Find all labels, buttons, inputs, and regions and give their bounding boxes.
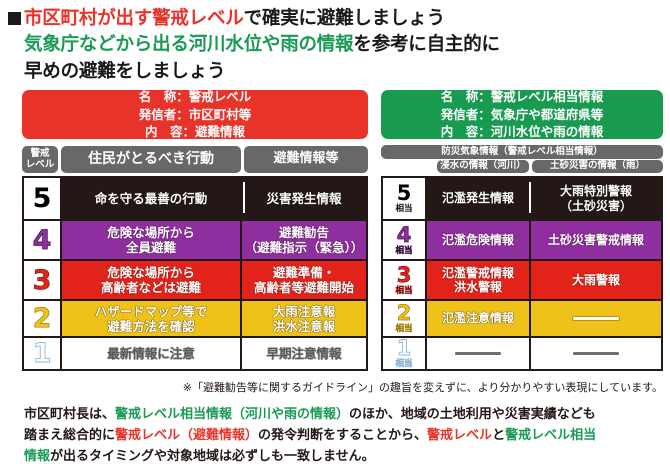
info-left-name: 名 称：警戒レベル — [139, 88, 252, 106]
river-line: 氾濫注意情報 — [442, 311, 514, 325]
evacuation-cell: 早期注意情報 — [242, 338, 366, 369]
river-line: 氾濫発生情報 — [442, 191, 514, 205]
level-number: 5 — [33, 185, 52, 212]
rain-line: 土砂災害警戒情報 — [548, 233, 644, 247]
level-cell: 2 相当 — [383, 301, 427, 336]
level-sub-label: 相当 — [395, 325, 412, 334]
level-sub-label: 相当 — [395, 247, 412, 256]
bottom-l3-b: が出るタイミングや対象地域は必ずしも一致しません。 — [50, 449, 375, 464]
bottom-paragraph: 市区町村長は、警戒レベル相当情報（河川や雨の情報）のほか、地域の土地利用や災害実… — [24, 404, 664, 467]
level-number: 3 — [33, 267, 52, 294]
evacuation-line: 洪水注意報 — [273, 319, 336, 334]
level-cell: 2 — [24, 301, 62, 336]
evacuation-cell: 避難勧告 （避難指示（緊急）） — [242, 221, 366, 259]
footnote: ※「避難勧告等に関するガイドライン」の趣旨を変えずに、より分かりやすい表現にして… — [22, 379, 663, 395]
evacuation-cell: 災害発生情報 — [242, 178, 366, 219]
bottom-l2-b: の発令判断をすることから、 — [258, 428, 427, 443]
level-sub-label: 相当 — [395, 287, 412, 296]
rain-line: 大雨特別警報 — [560, 184, 632, 198]
level-cell: 3 相当 — [383, 261, 427, 299]
empty-dash — [573, 317, 619, 320]
level-sub-label: 相当 — [395, 205, 412, 214]
action-cell: 命を守る最善の行動 — [62, 178, 242, 219]
evacuation-line: 大雨注意報 — [273, 304, 336, 319]
river-cell: 氾濫警戒情報 洪水警報 — [427, 261, 531, 299]
bottom-l2-red: 警戒レベル（避難情報） — [115, 428, 258, 443]
river-line: 洪水警報 — [442, 280, 514, 294]
bottom-l1-green: 警戒レベル相当情報（河川や雨の情報） — [115, 407, 349, 422]
action-line: 避難方法を確認 — [95, 319, 208, 334]
title-line-1-rest: で確実に避難しましょう — [244, 8, 445, 29]
header-bousai-weather-info: 防災気象情報（警戒レベル相当情報） — [381, 145, 663, 159]
bottom-l2-red2: 警戒レベル — [427, 428, 492, 443]
table-row: 1 最新情報に注意 早期注意情報 — [24, 338, 366, 369]
table-row: 4 相当 氾濫危険情報 土砂災害警戒情報 — [383, 221, 661, 261]
river-cell — [427, 338, 531, 369]
action-cell: 最新情報に注意 — [62, 338, 242, 369]
level-number: 4 — [397, 225, 412, 246]
title-line-2-rest: を参考に自主的に — [353, 34, 499, 55]
header-river-flood-info: 浸水の情報（河川） — [437, 160, 529, 173]
header-level: 警戒 レベル — [22, 146, 58, 173]
header-evacuation-info: 避難情報等 — [244, 146, 368, 173]
bottom-line-2: 踏まえ総合的に警戒レベル（避難情報）の発令判断をすることから、警戒レベルと警戒レ… — [24, 425, 664, 446]
info-right-content: 内 容：河川水位や雨の情報 — [441, 123, 604, 141]
rain-cell — [531, 338, 661, 369]
evacuation-cell: 大雨注意報 洪水注意報 — [242, 301, 366, 336]
header-resident-action: 住民がとるべき行動 — [61, 146, 241, 173]
info-box-equivalent-info: 名 称：警戒レベル相当情報 発信者：気象庁や都道府県等 内 容：河川水位や雨の情… — [381, 90, 663, 139]
level-number: 2 — [397, 303, 412, 324]
empty-dash — [455, 352, 501, 355]
evacuation-cell: 避難準備・ 高齢者等避難開始 — [242, 261, 366, 299]
bottom-line-1: 市区町村長は、警戒レベル相当情報（河川や雨の情報）のほか、地域の土地利用や災害実… — [24, 404, 664, 425]
empty-dash — [573, 352, 619, 355]
river-cell: 氾濫発生情報 — [427, 178, 531, 219]
rain-line: （土砂災害） — [560, 199, 632, 213]
bottom-l2-a: 踏まえ総合的に — [24, 428, 115, 443]
table-row: 3 相当 氾濫警戒情報 洪水警報 大雨警報 — [383, 261, 661, 301]
level-cell: 3 — [24, 261, 62, 299]
evacuation-line: （避難指示（緊急）） — [245, 240, 364, 255]
action-line: 命を守る最善の行動 — [95, 191, 208, 206]
bottom-l1-a: 市区町村長は、 — [24, 407, 115, 422]
level-cell: 5 相当 — [383, 178, 427, 219]
title-line-1-red: 市区町村が出す警戒レベル — [24, 8, 244, 29]
level-sub-label: 相当 — [395, 360, 412, 369]
title-line-2: 気象庁などから出る河川水位や雨の情報を参考に自主的に — [24, 32, 664, 58]
level-cell: 5 — [24, 178, 62, 219]
table-row: 5 相当 氾濫発生情報 大雨特別警報 （土砂災害） — [383, 178, 661, 221]
action-line: ハザードマップ等で — [95, 304, 208, 319]
rain-cell — [531, 301, 661, 336]
level-number: 5 — [397, 183, 412, 204]
page-title: 市区町村が出す警戒レベルで確実に避難しましょう 気象庁などから出る河川水位や雨の… — [8, 6, 664, 85]
info-left-sender: 発信者：市区町村等 — [139, 106, 252, 124]
river-cell: 氾濫危険情報 — [427, 221, 531, 259]
action-cell: 危険な場所から 高齢者などは避難 — [62, 261, 242, 299]
rain-line: 大雨警報 — [572, 273, 620, 287]
evacuation-line: 高齢者等避難開始 — [254, 280, 354, 295]
evacuation-line: 災害発生情報 — [266, 191, 341, 206]
rain-cell: 土砂災害警戒情報 — [531, 221, 661, 259]
level-cell: 4 — [24, 221, 62, 259]
level-number: 2 — [33, 305, 52, 332]
info-right-sender: 発信者：気象庁や都道府県等 — [441, 106, 604, 124]
level-cell: 1 — [24, 338, 62, 369]
row5-divider-right — [529, 182, 531, 213]
row5-divider-left — [243, 182, 245, 213]
info-left-content: 内 容：避難情報 — [139, 123, 252, 141]
bottom-l2-c: と — [492, 428, 505, 443]
level-number: 1 — [397, 338, 412, 359]
river-line: 氾濫危険情報 — [442, 233, 514, 247]
action-line: 危険な場所から — [101, 265, 201, 280]
equivalent-info-table: 5 相当 氾濫発生情報 大雨特別警報 （土砂災害） 4 相当 氾濫危険情報 土砂… — [381, 176, 663, 371]
evacuation-line: 避難準備・ — [254, 265, 354, 280]
level-cell: 4 相当 — [383, 221, 427, 259]
bottom-l3-green: 情報 — [24, 449, 50, 464]
table-row: 4 危険な場所から 全員避難 避難勧告 （避難指示（緊急）） — [24, 221, 366, 261]
header-level-line1: 警戒 — [26, 149, 55, 160]
rain-cell: 大雨特別警報 （土砂災害） — [531, 178, 661, 219]
action-cell: 危険な場所から 全員避難 — [62, 221, 242, 259]
warning-level-infographic: 市区町村が出す警戒レベルで確実に避難しましょう 気象庁などから出る河川水位や雨の… — [0, 0, 670, 468]
header-level-line2: レベル — [26, 160, 55, 171]
action-line: 高齢者などは避難 — [101, 280, 201, 295]
action-cell: ハザードマップ等で 避難方法を確認 — [62, 301, 242, 336]
header-sediment-disaster-info: 土砂災害の情報（雨） — [532, 160, 663, 173]
table-row: 5 命を守る最善の行動 災害発生情報 — [24, 178, 366, 221]
evacuation-line: 避難勧告 — [245, 225, 364, 240]
title-line-1: 市区町村が出す警戒レベルで確実に避難しましょう — [8, 6, 664, 32]
table-row: 2 ハザードマップ等で 避難方法を確認 大雨注意報 洪水注意報 — [24, 301, 366, 338]
action-line: 危険な場所から — [107, 225, 195, 240]
bottom-l1-b: のほか、地域の土地利用や災害実績なども — [349, 407, 596, 422]
table-row: 1 相当 — [383, 338, 661, 369]
info-right-name: 名 称：警戒レベル相当情報 — [441, 88, 604, 106]
evacuation-line: 早期注意情報 — [266, 346, 341, 361]
rain-cell: 大雨警報 — [531, 261, 661, 299]
table-row: 3 危険な場所から 高齢者などは避難 避難準備・ 高齢者等避難開始 — [24, 261, 366, 301]
river-line: 氾濫警戒情報 — [442, 266, 514, 280]
action-line: 全員避難 — [107, 240, 195, 255]
info-box-warning-level: 名 称：警戒レベル 発信者：市区町村等 内 容：避難情報 — [22, 90, 368, 139]
level-number: 1 — [33, 340, 52, 367]
warning-level-table: 5 命を守る最善の行動 災害発生情報 4 危険な場所から 全員避難 避難勧告 （… — [22, 176, 368, 371]
level-number: 3 — [397, 265, 412, 286]
level-cell: 1 相当 — [383, 338, 427, 369]
title-line-3: 早めの避難をしましょう — [24, 59, 664, 85]
bullet-square-icon — [8, 12, 21, 25]
table-row: 2 相当 氾濫注意情報 — [383, 301, 661, 338]
title-line-2-green: 気象庁などから出る河川水位や雨の情報 — [24, 34, 353, 55]
action-line: 最新情報に注意 — [107, 346, 195, 361]
bottom-line-3: 情報が出るタイミングや対象地域は必ずしも一致しません。 — [24, 446, 664, 467]
bottom-l2-green2: 警戒レベル相当 — [505, 428, 596, 443]
level-number: 4 — [33, 227, 52, 254]
river-cell: 氾濫注意情報 — [427, 301, 531, 336]
